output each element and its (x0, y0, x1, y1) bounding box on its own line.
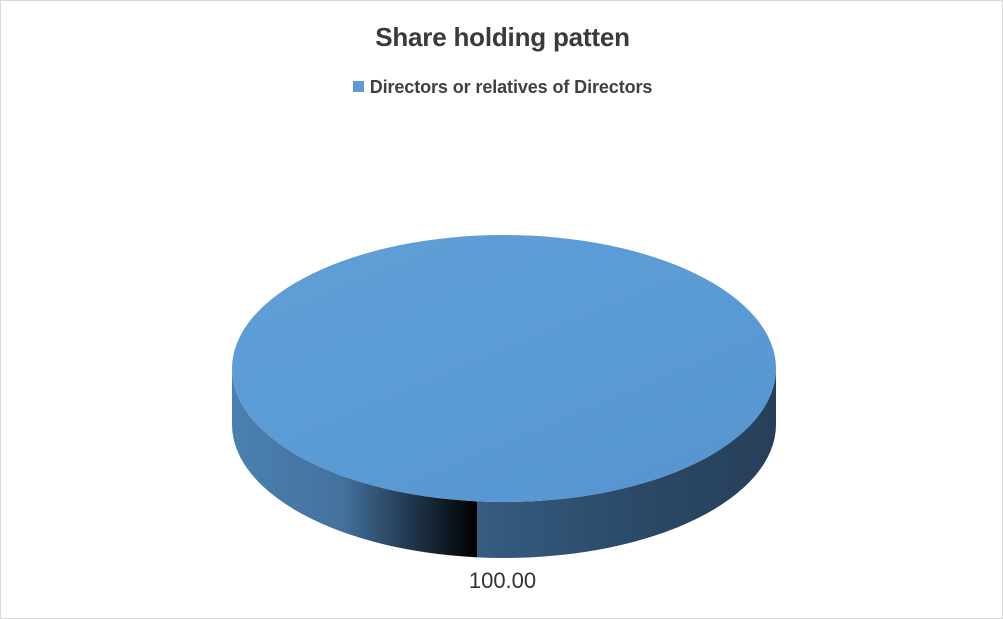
legend-color-swatch-icon (353, 81, 364, 92)
legend-item-label: Directors or relatives of Directors (370, 75, 653, 99)
pie-chart-plot-area (232, 235, 776, 558)
chart-canvas: Share holding patten Directors or relati… (0, 0, 1003, 619)
pie-3d-graphic[interactable] (232, 235, 776, 558)
legend-item-directors[interactable]: Directors or relatives of Directors (353, 75, 653, 99)
pie-slice-top-face[interactable] (232, 235, 776, 502)
chart-title: Share holding patten (1, 20, 1003, 54)
pie-data-label: 100.00 (1, 567, 1003, 595)
chart-legend: Directors or relatives of Directors (1, 75, 1003, 99)
